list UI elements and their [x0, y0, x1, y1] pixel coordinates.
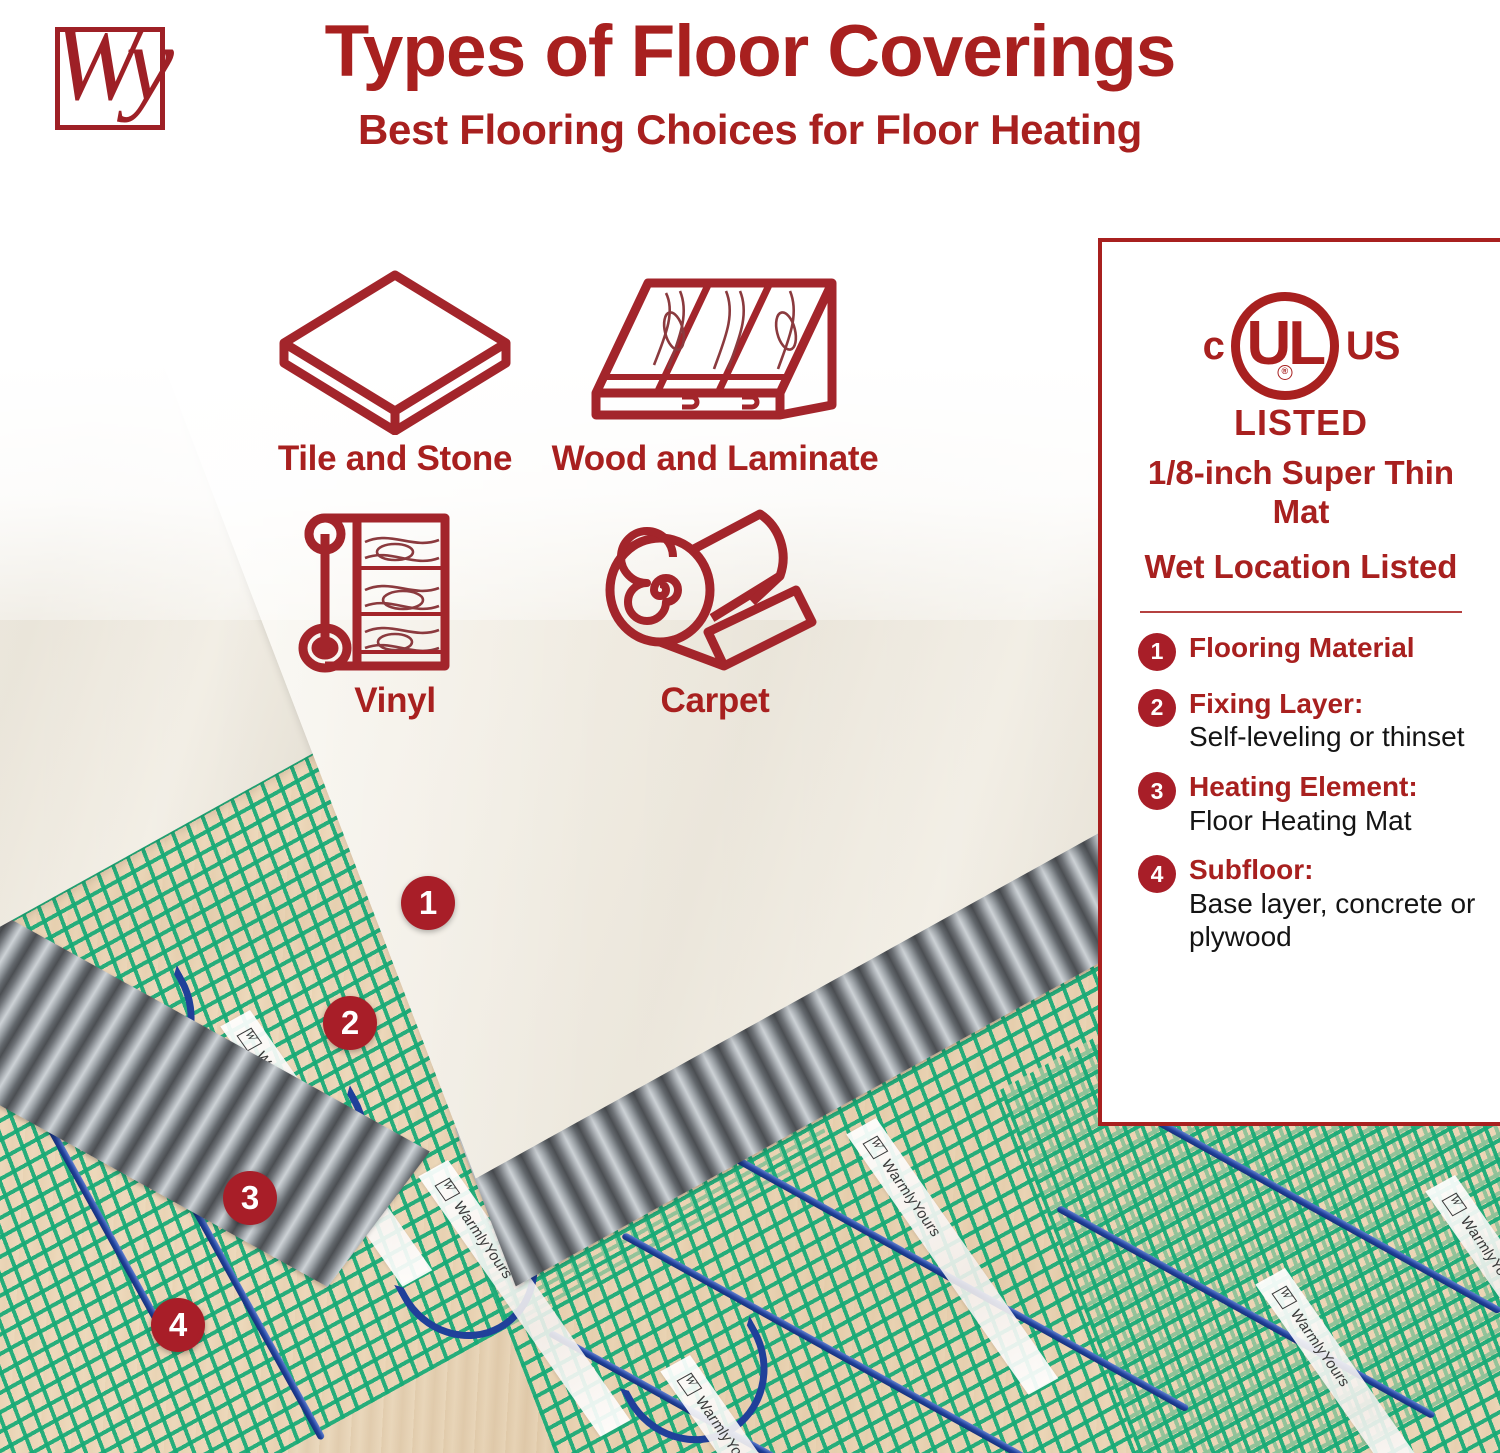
photo-marker-4: 4	[151, 1298, 205, 1352]
legend-item-heating-element: 3 Heating Element: Floor Heating Mat	[1138, 770, 1480, 837]
ul-certification-panel: c UL ® US LISTED 1/8-inch Super Thin Mat…	[1098, 238, 1500, 1126]
legend-badge-4: 4	[1138, 855, 1176, 893]
carpet-roll-icon	[550, 504, 880, 679]
wood-laminate-icon	[550, 262, 880, 437]
covering-carpet: Carpet	[550, 504, 880, 721]
legend-desc: Floor Heating Mat	[1189, 805, 1412, 836]
covering-label: Tile and Stone	[230, 439, 560, 479]
legend-item-flooring-material: 1 Flooring Material	[1138, 631, 1480, 671]
covering-label: Vinyl	[230, 681, 560, 721]
page-subtitle: Best Flooring Choices for Floor Heating	[0, 106, 1500, 154]
warmlyyours-logo-icon	[677, 1372, 703, 1396]
covering-tile-and-stone: Tile and Stone	[230, 262, 560, 479]
legend-title: Fixing Layer:	[1189, 688, 1363, 719]
legend-item-subfloor: 4 Subfloor: Base layer, concrete or plyw…	[1138, 853, 1480, 954]
ul-prefix-c: c	[1203, 324, 1224, 369]
layer-legend-list: 1 Flooring Material 2 Fixing Layer: Self…	[1102, 631, 1500, 954]
tile-stone-icon	[230, 262, 560, 437]
legend-title: Heating Element:	[1189, 771, 1418, 802]
ul-suffix-us: US	[1346, 324, 1400, 369]
legend-badge-3: 3	[1138, 772, 1176, 810]
warmlyyours-logo-icon	[1442, 1192, 1468, 1216]
registered-trademark-icon: ®	[1277, 365, 1292, 380]
warmlyyours-logo-icon	[1272, 1285, 1298, 1309]
panel-heading-wet-location: Wet Location Listed	[1130, 548, 1472, 587]
covering-wood-and-laminate: Wood and Laminate	[550, 262, 880, 479]
covering-vinyl: Vinyl	[230, 504, 560, 721]
photo-marker-3: 3	[223, 1171, 277, 1225]
legend-desc: Base layer, concrete or plywood	[1189, 888, 1475, 953]
legend-text: Flooring Material	[1189, 631, 1415, 665]
legend-desc: Self-leveling or thinset	[1189, 721, 1464, 752]
legend-badge-2: 2	[1138, 689, 1176, 727]
vinyl-roll-icon	[230, 504, 560, 679]
warmlyyours-logo-icon	[435, 1177, 461, 1201]
page-title: Types of Floor Coverings	[0, 10, 1500, 93]
photo-marker-2: 2	[323, 996, 377, 1050]
legend-item-fixing-layer: 2 Fixing Layer: Self-leveling or thinset	[1138, 687, 1480, 754]
panel-heading-thin-mat: 1/8-inch Super Thin Mat	[1130, 454, 1472, 532]
panel-divider	[1140, 611, 1462, 613]
legend-text: Heating Element: Floor Heating Mat	[1189, 770, 1418, 837]
legend-title: Subfloor:	[1189, 854, 1313, 885]
covering-label: Carpet	[550, 681, 880, 721]
legend-title: Flooring Material	[1189, 632, 1415, 663]
warmlyyours-logo-icon	[863, 1135, 889, 1159]
page-header: Wy Types of Floor Coverings Best Floorin…	[0, 0, 1500, 190]
legend-text: Subfloor: Base layer, concrete or plywoo…	[1189, 853, 1480, 954]
ul-listed-text: LISTED	[1102, 402, 1500, 444]
legend-badge-1: 1	[1138, 633, 1176, 671]
floor-covering-icon-grid: Tile and Stone	[230, 262, 950, 762]
legend-text: Fixing Layer: Self-leveling or thinset	[1189, 687, 1464, 754]
ul-listed-logo-icon: c UL ® US LISTED	[1102, 282, 1500, 432]
ul-circle-mark: UL ®	[1231, 292, 1339, 400]
panel-headings: 1/8-inch Super Thin Mat Wet Location Lis…	[1102, 454, 1500, 587]
photo-marker-1: 1	[401, 876, 455, 930]
covering-label: Wood and Laminate	[550, 439, 880, 479]
